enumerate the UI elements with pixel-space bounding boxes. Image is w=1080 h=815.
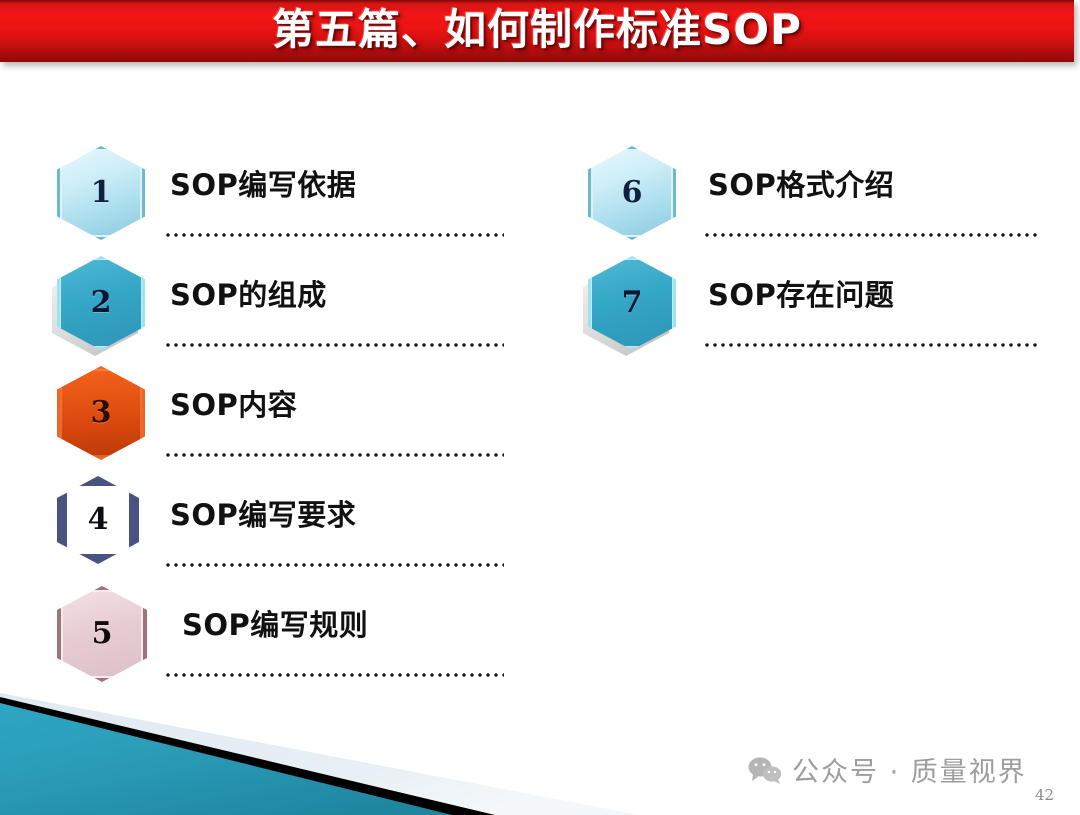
hexagon-badge-7: 7 (583, 254, 679, 350)
agenda-left-column: 1 SOP编写依据 2 SOP的组成 3 SOP内容 (52, 140, 522, 690)
dotted-rule (164, 232, 504, 238)
decoration-band-teal (0, 703, 452, 815)
hexagon-icon: 4 (57, 476, 139, 564)
page-number: 42 (1035, 786, 1054, 804)
agenda-item-6[interactable]: 6 SOP格式介绍 (583, 140, 1053, 250)
agenda-item-7[interactable]: 7 SOP存在问题 (583, 250, 1053, 360)
agenda-item-2[interactable]: 2 SOP的组成 (52, 250, 522, 360)
hexagon-number: 2 (91, 288, 112, 318)
hexagon-badge-5: 5 (52, 584, 148, 680)
hexagon-badge-3: 3 (52, 364, 148, 460)
hexagon-number: 7 (622, 288, 643, 318)
hexagon-number: 1 (91, 178, 112, 208)
slide-canvas: 第五篇、如何制作标准SOP 1 SOP编写依据 2 SOP的组成 (0, 0, 1080, 815)
wechat-icon (748, 756, 782, 784)
dotted-rule (703, 342, 1038, 348)
agenda-item-label: SOP存在问题 (708, 272, 894, 314)
hexagon-badge-6: 6 (583, 144, 679, 240)
title-banner: 第五篇、如何制作标准SOP (0, 0, 1074, 62)
agenda-item-label: SOP编写依据 (170, 162, 356, 204)
hexagon-number: 6 (622, 178, 643, 208)
dotted-rule (164, 342, 504, 348)
brand-label: 公众号 · 质量视界 (792, 750, 1027, 789)
agenda-item-5[interactable]: 5 SOP编写规则 (52, 580, 522, 690)
dotted-rule (703, 232, 1038, 238)
agenda-right-column: 6 SOP格式介绍 7 SOP存在问题 (583, 140, 1053, 360)
dotted-rule (164, 672, 504, 678)
hexagon-icon: 5 (57, 586, 147, 682)
footer-brand: 公众号 · 质量视界 (748, 750, 1027, 789)
corner-decoration (0, 675, 660, 815)
agenda-item-1[interactable]: 1 SOP编写依据 (52, 140, 522, 250)
hexagon-number: 5 (92, 619, 113, 649)
dotted-rule (164, 452, 504, 458)
agenda-item-label: SOP编写规则 (182, 602, 368, 644)
dotted-rule (164, 562, 504, 568)
hexagon-number: 3 (91, 398, 112, 428)
agenda-item-4[interactable]: 4 SOP编写要求 (52, 470, 522, 580)
page-title: 第五篇、如何制作标准SOP (0, 0, 1074, 62)
agenda-item-label: SOP格式介绍 (708, 162, 894, 204)
hexagon-icon: 1 (57, 146, 145, 240)
hexagon-badge-4: 4 (52, 474, 148, 570)
hexagon-badge-2: 2 (52, 254, 148, 350)
decoration-band-pale (0, 693, 640, 815)
hexagon-badge-1: 1 (52, 144, 148, 240)
agenda-item-3[interactable]: 3 SOP内容 (52, 360, 522, 470)
agenda-item-label: SOP编写要求 (170, 492, 356, 534)
hexagon-icon: 6 (588, 146, 676, 240)
hexagon-icon: 3 (57, 366, 145, 460)
agenda-item-label: SOP的组成 (170, 272, 327, 314)
hexagon-number: 4 (88, 505, 109, 535)
decoration-band-black (0, 697, 495, 815)
agenda-item-label: SOP内容 (170, 382, 297, 424)
